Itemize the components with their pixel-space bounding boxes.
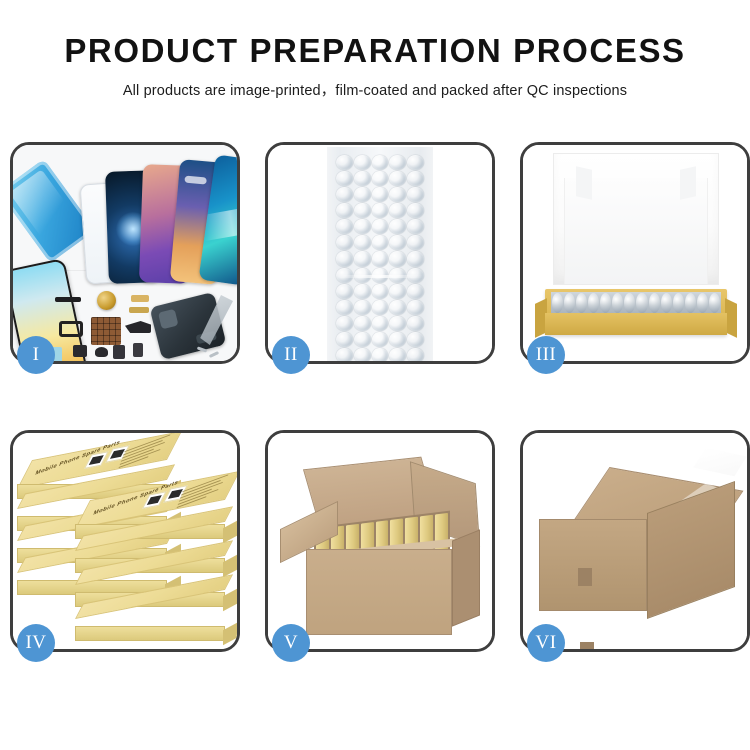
step-3-image: [523, 145, 747, 361]
lid-tab-right: [680, 166, 696, 199]
phone-screen-fan: [75, 153, 237, 283]
bubble-wrapped-contents: [551, 292, 721, 314]
step-badge-5: V: [272, 624, 310, 662]
step-badge-1: I: [17, 336, 55, 374]
sealed-shipping-carton: [539, 467, 735, 625]
step-panel-2[interactable]: II: [265, 142, 495, 364]
pouch-seam: [336, 275, 424, 278]
retail-box-stack: Mobile Phone Spare Parts: [17, 447, 237, 647]
frame-bracket-part: [59, 321, 83, 337]
carton-handle-notch: [578, 568, 592, 586]
screws-icon: [197, 345, 227, 359]
carton-side-face: [452, 529, 480, 626]
step-6-image: [523, 433, 747, 649]
gold-connector-part: [131, 295, 149, 302]
step-badge-4: IV: [17, 624, 55, 662]
step-panel-3[interactable]: III: [520, 142, 750, 364]
step-panel-4[interactable]: Mobile Phone Spare Parts: [10, 430, 240, 652]
box-lid-open: [553, 153, 719, 285]
page-subtitle: All products are image-printed，film-coat…: [0, 79, 750, 100]
carton-handle-notch: [580, 642, 594, 649]
small-part: [113, 345, 125, 359]
step-1-image: [13, 145, 237, 361]
kraft-box-tray: [545, 289, 727, 335]
tray-front-face: [545, 313, 727, 335]
step-panel-6[interactable]: VI: [520, 430, 750, 652]
carton-front-face: [306, 549, 452, 635]
step-panel-5[interactable]: V: [265, 430, 495, 652]
open-shipping-carton: [286, 463, 476, 635]
flex-cable-part: [55, 297, 81, 302]
bubble-wrap-pouch: [327, 147, 433, 361]
step-badge-6: VI: [527, 624, 565, 662]
retail-box: [75, 605, 225, 641]
process-steps-grid: I: [10, 142, 748, 652]
page-title: PRODUCT PREPARATION PROCESS: [0, 34, 750, 69]
step-badge-2: II: [272, 336, 310, 374]
copper-coil-icon: [97, 291, 116, 310]
ic-chip-grid-icon: [91, 317, 121, 345]
bubble-grid: [336, 155, 424, 361]
step-2-image: [268, 145, 492, 361]
step-4-image: Mobile Phone Spare Parts: [13, 433, 237, 649]
small-part: [133, 343, 143, 357]
gold-connector-part: [129, 307, 149, 313]
step-panel-1[interactable]: I: [10, 142, 240, 364]
step-badge-3: III: [527, 336, 565, 374]
small-part: [95, 347, 108, 357]
page-header: PRODUCT PREPARATION PROCESS All products…: [0, 0, 750, 100]
small-part: [73, 345, 87, 357]
carton-left-face: [539, 519, 647, 611]
lid-tab-left: [576, 166, 592, 199]
step-5-image: [268, 433, 492, 649]
